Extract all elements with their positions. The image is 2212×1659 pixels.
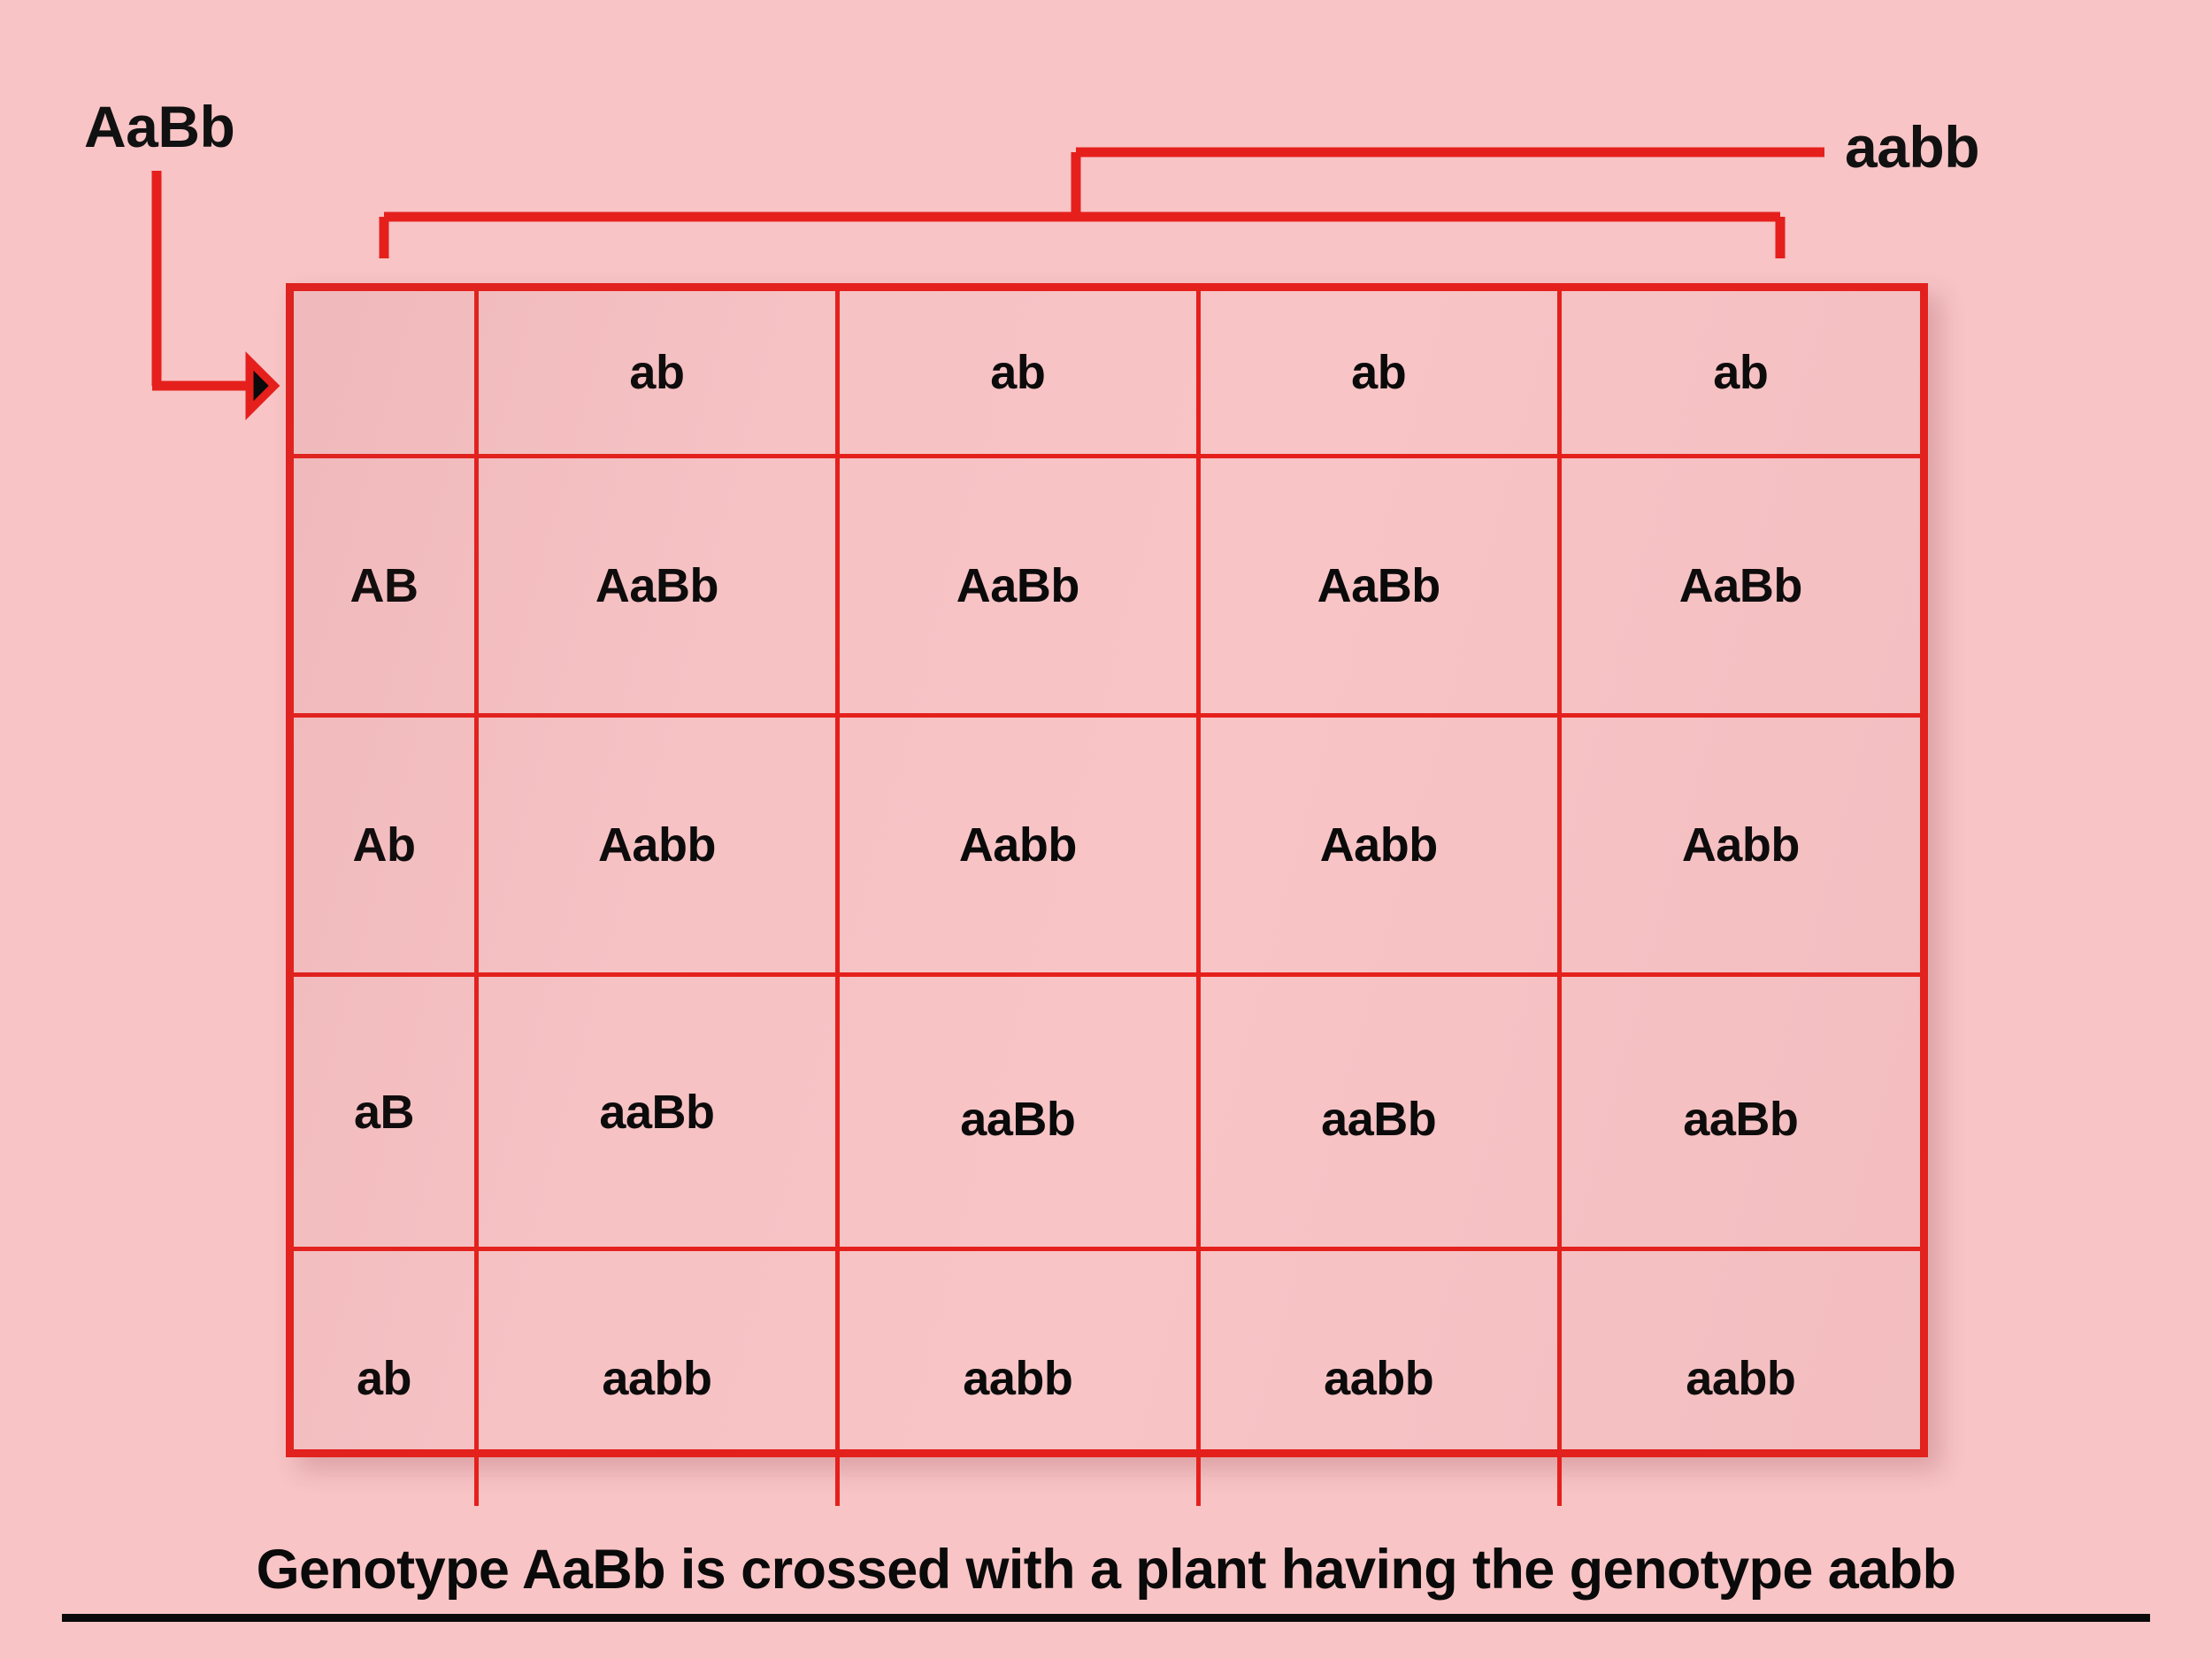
- punnett-grid: ab ab ab ab AB AaBb AaBb AaBb AaBb Ab Aa…: [294, 291, 1920, 1506]
- bracket-lower-over-columns: [384, 217, 1780, 258]
- figure-caption: Genotype AaBb is crossed with a plant ha…: [62, 1538, 2150, 1622]
- row-gamete-2: Ab: [294, 716, 477, 975]
- offspring-cell: AaBb: [1559, 457, 1920, 716]
- offspring-cell: aabb: [1198, 1249, 1559, 1507]
- column-gamete-4: ab: [1559, 291, 1920, 457]
- punnett-square-figure: AaBb aabb ab ab ab ab: [0, 0, 2212, 1659]
- offspring-cell: Aabb: [477, 716, 838, 975]
- offspring-cell: aaBb: [837, 975, 1198, 1249]
- offspring-cell: AaBb: [477, 457, 838, 716]
- offspring-cell: aabb: [1559, 1249, 1920, 1507]
- table-row: ab aabb aabb aabb aabb: [294, 1249, 1920, 1507]
- caption-underline: [62, 1614, 2150, 1622]
- column-gamete-1: ab: [477, 291, 838, 457]
- row-gamete-1: AB: [294, 457, 477, 716]
- offspring-cell: Aabb: [1198, 716, 1559, 975]
- punnett-square-table: ab ab ab ab AB AaBb AaBb AaBb AaBb Ab Aa…: [286, 283, 1928, 1457]
- parent-genotype-label-right: aabb: [1845, 113, 1979, 180]
- corner-cell: [294, 291, 477, 457]
- table-row: Ab Aabb Aabb Aabb Aabb: [294, 716, 1920, 975]
- offspring-cell: Aabb: [1559, 716, 1920, 975]
- row-gamete-4: ab: [294, 1249, 477, 1507]
- column-gamete-3: ab: [1198, 291, 1559, 457]
- offspring-cell: AaBb: [837, 457, 1198, 716]
- offspring-cell: aabb: [837, 1249, 1198, 1507]
- row-gamete-3: aB: [294, 975, 477, 1249]
- parent-genotype-label-left: AaBb: [84, 93, 234, 160]
- caption-text: Genotype AaBb is crossed with a plant ha…: [62, 1538, 2150, 1601]
- offspring-cell: Aabb: [837, 716, 1198, 975]
- table-row: aB aaBb aaBb aaBb aaBb: [294, 975, 1920, 1249]
- table-header-row: ab ab ab ab: [294, 291, 1920, 457]
- arrow-from-left-parent: [152, 171, 274, 411]
- offspring-cell: AaBb: [1198, 457, 1559, 716]
- offspring-cell: aaBb: [1198, 975, 1559, 1249]
- bracket-upper-to-right-parent: [1076, 152, 1824, 219]
- offspring-cell: aabb: [477, 1249, 838, 1507]
- offspring-cell: aaBb: [477, 975, 838, 1249]
- table-row: AB AaBb AaBb AaBb AaBb: [294, 457, 1920, 716]
- offspring-cell: aaBb: [1559, 975, 1920, 1249]
- column-gamete-2: ab: [837, 291, 1198, 457]
